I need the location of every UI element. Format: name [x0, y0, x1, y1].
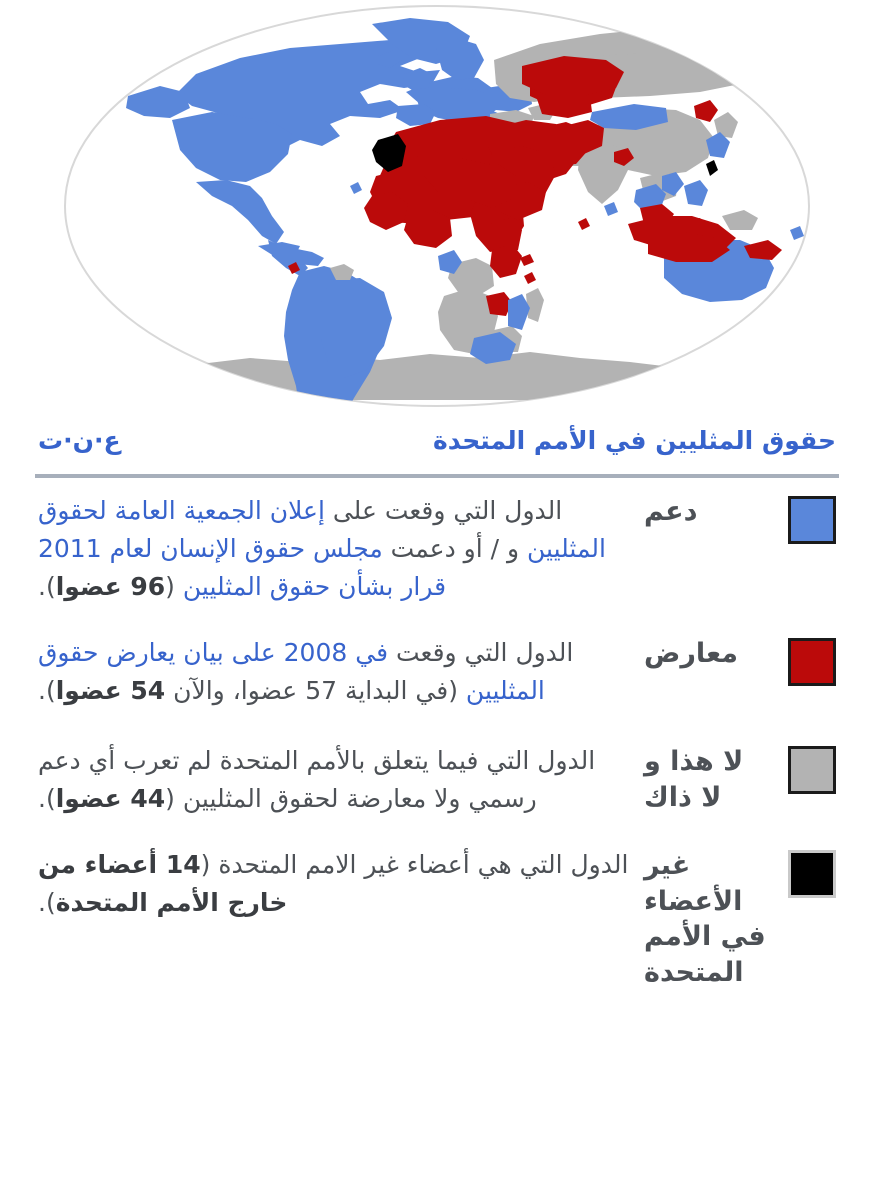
desc-text-plain-2: و / أو دعمت	[383, 534, 527, 563]
world-map-figure	[0, 0, 874, 412]
color-swatch-neither	[788, 746, 836, 794]
desc-text-end: ).	[38, 784, 56, 813]
legend-desc-support: الدول التي وقعت على إعلان الجمعية العامة…	[30, 490, 638, 606]
swatch-cell	[770, 490, 836, 544]
legend-row: دعم الدول التي وقعت على إعلان الجمعية ال…	[30, 490, 836, 606]
legend-label-non-member: غير الأعضاء في الأمم المتحدة	[638, 844, 770, 991]
legend-row: غير الأعضاء في الأمم المتحدة الدول التي …	[30, 844, 836, 991]
legend: دعم الدول التي وقعت على إعلان الجمعية ال…	[0, 490, 874, 991]
desc-count-neither: 44 عضوا	[56, 784, 165, 813]
color-swatch-oppose	[788, 638, 836, 686]
desc-count-oppose: 54 عضوا	[56, 676, 165, 705]
page-root: حقوق المثليين في الأمم المتحدة ع·ن·ت دعم…	[0, 0, 874, 1200]
desc-count-support: 96 عضوا	[56, 572, 165, 601]
region-new-zealand	[778, 286, 800, 316]
color-swatch-support	[788, 496, 836, 544]
legend-desc-oppose: الدول التي وقعت في 2008 على بيان يعارض ح…	[30, 632, 638, 710]
swatch-cell	[770, 632, 836, 686]
legend-label-support: دعم	[638, 490, 770, 530]
desc-text-plain: الدول التي هي أعضاء غير الامم المتحدة (	[201, 850, 629, 879]
navbar-vte-links[interactable]: ع·ن·ت	[38, 426, 121, 455]
legend-label-neither: لا هذا و لا ذاك	[638, 740, 770, 815]
legend-label-oppose: معارض	[638, 632, 770, 672]
navbar-divider	[35, 474, 839, 478]
world-map-svg	[0, 0, 874, 412]
legend-desc-non-member: الدول التي هي أعضاء غير الامم المتحدة (1…	[30, 844, 638, 922]
desc-text-end: ).	[38, 572, 56, 601]
legend-row: معارض الدول التي وقعت في 2008 على بيان ي…	[30, 632, 836, 710]
desc-text-end: ).	[38, 676, 56, 705]
desc-text-plain-2: (في البداية 57 عضوا، والآن	[165, 676, 466, 705]
legend-row: لا هذا و لا ذاك الدول التي فيما يتعلق با…	[30, 740, 836, 818]
navbar: حقوق المثليين في الأمم المتحدة ع·ن·ت	[0, 412, 874, 490]
swatch-cell	[770, 740, 836, 794]
legend-desc-neither: الدول التي فيما يتعلق بالأمم المتحدة لم …	[30, 740, 638, 818]
page-title: حقوق المثليين في الأمم المتحدة	[433, 426, 836, 455]
desc-text-plain: الدول التي وقعت	[388, 638, 573, 667]
desc-text-end: ).	[38, 888, 56, 917]
desc-text-plain: الدول التي وقعت على	[325, 496, 562, 525]
color-swatch-non-member	[788, 850, 836, 898]
desc-text-plain-3: (	[165, 572, 183, 601]
swatch-cell	[770, 844, 836, 898]
